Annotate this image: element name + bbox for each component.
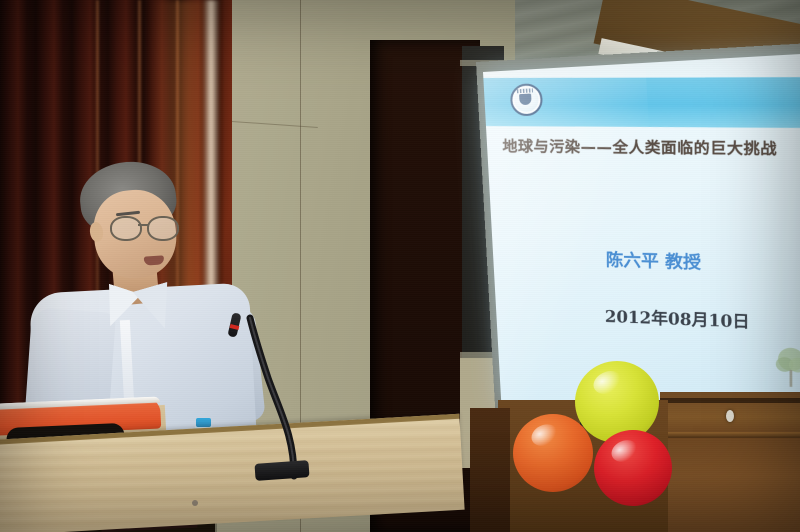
- balloon-highlight: [528, 420, 561, 450]
- lens-left: [110, 216, 142, 241]
- balloon-highlight: [608, 436, 640, 465]
- lens-right: [147, 216, 179, 241]
- wood-rail-lower: [660, 432, 800, 438]
- balloon-yellow: [575, 361, 659, 443]
- balloon-orange: [513, 414, 593, 492]
- balloon-red: [594, 430, 672, 506]
- slide-speaker-name: 陈六平 教授: [606, 245, 701, 273]
- tree-graphic: [775, 344, 800, 390]
- lectern-screw: [192, 500, 198, 506]
- eyeglasses: [110, 216, 180, 238]
- balloon-highlight: [590, 367, 625, 398]
- slide-date: 2012年08月10日: [605, 302, 750, 332]
- dark-wood-panel: [470, 408, 510, 532]
- glasses-bridge: [138, 224, 148, 226]
- wall-knob: [726, 410, 734, 422]
- lecture-photo: 地球与污染——全人类面临的巨大挑战 陈六平 教授 2012年08月10日: [0, 0, 800, 532]
- wood-rail-upper: [660, 398, 800, 403]
- projection-screen: 地球与污染——全人类面临的巨大挑战 陈六平 教授 2012年08月10日: [483, 53, 800, 409]
- slide-title: 地球与污染——全人类面临的巨大挑战: [502, 137, 800, 159]
- bottle-cap: [196, 418, 211, 427]
